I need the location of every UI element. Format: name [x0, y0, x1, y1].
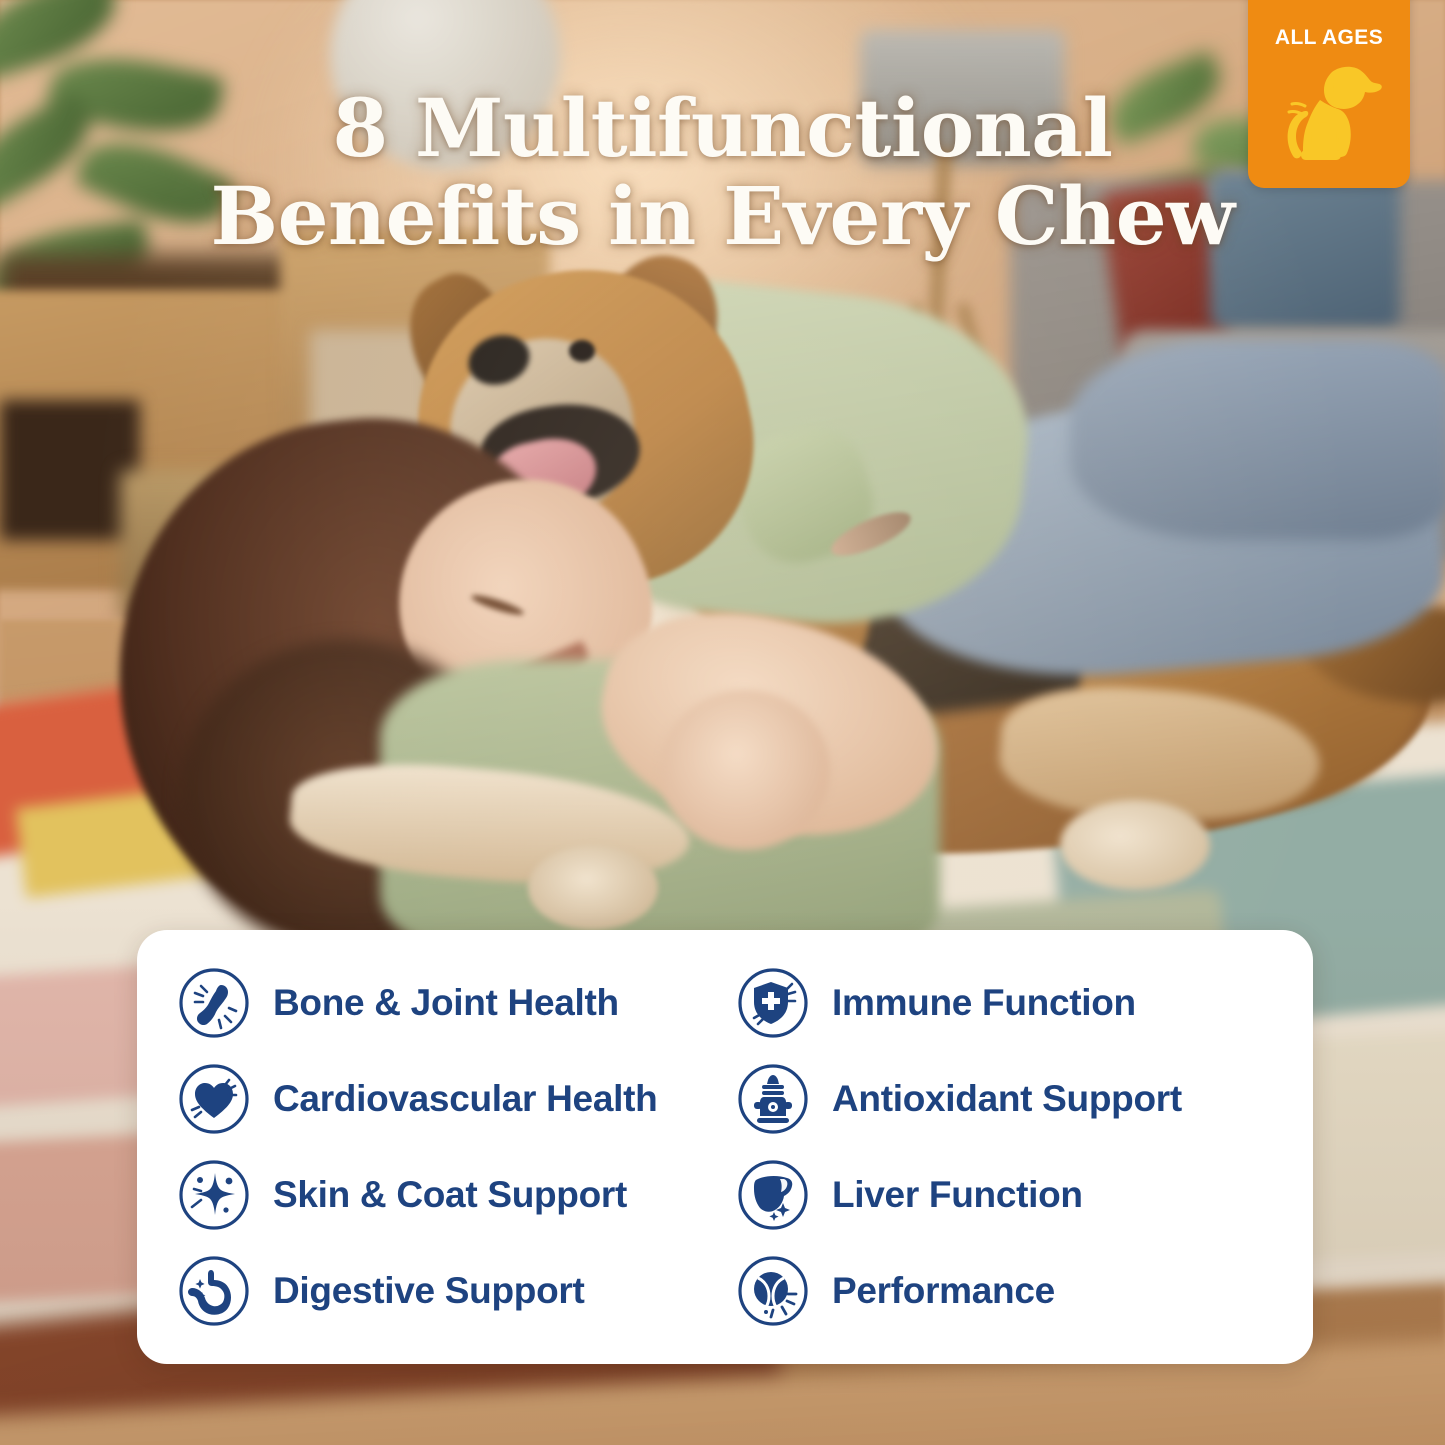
benefit-label: Digestive Support: [273, 1270, 585, 1312]
benefit-cardiovascular-health[interactable]: Cardiovascular Health: [177, 1051, 720, 1147]
stomach-icon: [177, 1254, 251, 1328]
shield-plus-icon: [736, 966, 810, 1040]
liver-icon: [736, 1158, 810, 1232]
all-ages-badge: ALL AGES: [1248, 0, 1410, 188]
woman-hand: [660, 690, 830, 850]
benefit-label: Liver Function: [832, 1174, 1083, 1216]
sparkle-star-icon: [177, 1158, 251, 1232]
benefit-label: Cardiovascular Health: [273, 1078, 657, 1120]
benefit-label: Immune Function: [832, 982, 1136, 1024]
person-jeans-upper: [1070, 340, 1445, 540]
bone-joint-icon: [177, 966, 251, 1040]
benefit-liver-function[interactable]: Liver Function: [736, 1147, 1279, 1243]
dog-paw-left: [528, 845, 658, 930]
page-title: 8 Multifunctional Benefits in Every Chew: [0, 88, 1445, 257]
benefits-card: Bone & Joint Health Immune Function: [137, 930, 1313, 1364]
dog-eye: [569, 340, 595, 362]
dog-paw-right: [1060, 800, 1210, 890]
benefit-label: Skin & Coat Support: [273, 1174, 627, 1216]
benefit-label: Bone & Joint Health: [273, 982, 619, 1024]
benefit-antioxidant-support[interactable]: Antioxidant Support: [736, 1051, 1279, 1147]
benefit-label: Antioxidant Support: [832, 1078, 1182, 1120]
headline-line-2: Benefits in Every Chew: [120, 176, 1325, 258]
benefit-digestive-support[interactable]: Digestive Support: [177, 1243, 720, 1339]
benefit-bone-joint-health[interactable]: Bone & Joint Health: [177, 955, 720, 1051]
sitting-dog-icon: [1270, 60, 1388, 164]
heart-icon: [177, 1062, 251, 1136]
headline-line-1: 8 Multifunctional: [332, 81, 1112, 175]
shelf-cubby-dark: [0, 400, 140, 540]
tennis-ball-icon: [736, 1254, 810, 1328]
fire-hydrant-icon: [736, 1062, 810, 1136]
benefit-immune-function[interactable]: Immune Function: [736, 955, 1279, 1051]
all-ages-label: ALL AGES: [1248, 26, 1410, 50]
benefit-label: Performance: [832, 1270, 1055, 1312]
benefit-skin-coat-support[interactable]: Skin & Coat Support: [177, 1147, 720, 1243]
product-infographic: 8 Multifunctional Benefits in Every Chew…: [0, 0, 1445, 1445]
benefit-performance[interactable]: Performance: [736, 1243, 1279, 1339]
